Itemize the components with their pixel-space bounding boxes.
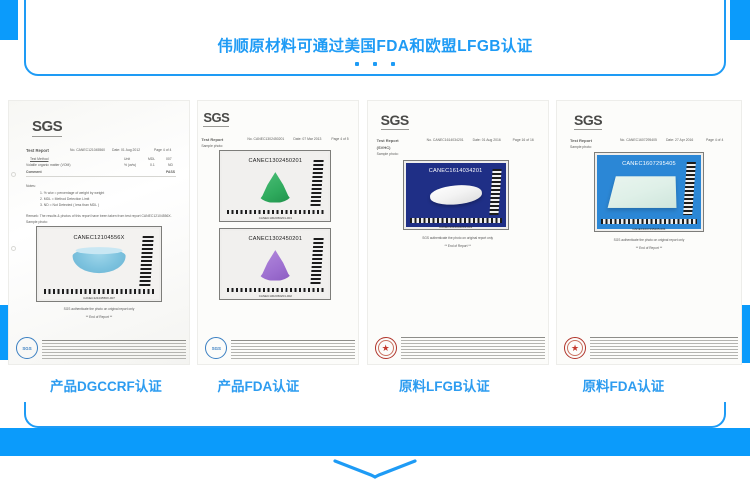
report-number: No. CANEC1614034201 [427, 138, 464, 142]
sample-code: CANEC12104556X [39, 235, 159, 241]
end-of-report-note: ** End of Report ** [556, 246, 742, 250]
ruler-horizontal-icon [227, 210, 325, 215]
result-test-label: Test Method [30, 157, 48, 161]
result-conclusion-label: Comment [26, 170, 42, 174]
notes-label: Notes: [26, 184, 36, 188]
certificate-caption-dgccrf: 产品DGCCRF认证 [8, 375, 192, 395]
result-value-unit: % (w/w) [124, 163, 136, 167]
note-item: 1. % w/w = percentage of weight by weigh… [40, 191, 104, 195]
photo-caption: CANEC1607295405-001 [595, 227, 703, 231]
sample-photo: CANEC1614034201 CANEC1614034201-001 [403, 160, 509, 230]
sample-photo: CANEC1607295405 CANEC1607295405-001 [594, 152, 704, 232]
report-page: Page 4 of 5 [331, 137, 348, 141]
report-page: Page 4 of 4 [706, 138, 723, 142]
chevron-down-icon [331, 458, 419, 479]
remark-text: Remark: The results & photos of this rep… [26, 214, 172, 218]
scan-page: SGS Test Report (SVHC) No. CANEC16140342… [367, 100, 549, 365]
edge-tab-top-right [730, 0, 750, 40]
sample-mat-shape [607, 177, 676, 209]
ruler-horizontal-icon [227, 288, 325, 293]
punch-hole-icon [11, 246, 16, 251]
sample-soap-shape [429, 183, 482, 207]
report-number: No. CANEC1302450201 [247, 137, 284, 141]
sgs-seal-icon [16, 337, 38, 359]
report-number: No. CANEC121045560 [70, 148, 105, 152]
ruler-vertical-icon [489, 169, 501, 215]
section-label: Sample photo: [201, 144, 223, 148]
dot-3 [391, 62, 395, 66]
certificate-card[interactable]: SGS Test Report No. CANEC1302450201 Date… [197, 100, 359, 365]
divider [26, 176, 176, 177]
header-subtitle: 伟顺原材料可通过美国FDA和欧盟LFGB认证 [26, 34, 724, 56]
scan-page: SGS Test Report No. CANEC1607295405 Date… [556, 100, 742, 365]
result-value-mdl: 0.1 [150, 163, 155, 167]
sgs-logo: SGS [32, 118, 62, 137]
caption-cell: 产品DGCCRF认证 [8, 375, 192, 397]
authenticity-note: SGS authenticate the photo on original r… [8, 307, 190, 311]
section-label: Sample photo: [570, 145, 592, 149]
report-title: Test Report [201, 137, 223, 142]
punch-hole-icon [11, 172, 16, 177]
caption-cell: 原料LFGB认证 [375, 375, 559, 397]
sample-drop-green-shape [257, 172, 293, 202]
result-conclusion: PASS [166, 170, 175, 174]
photo-caption: CANEC1614034201-001 [404, 225, 508, 229]
scan-footer [197, 329, 359, 365]
ruler-vertical-icon [139, 236, 153, 286]
scan-footer [8, 329, 190, 365]
end-of-report-note: ** End of Report ** [367, 244, 549, 248]
dot-1 [355, 62, 359, 66]
sample-photo: CANEC1302450201 CANEC1302450201-001 [219, 150, 331, 222]
sgs-logo: SGS [574, 112, 602, 130]
footer-fineprint [401, 337, 545, 361]
footer-fineprint [590, 337, 738, 361]
section-label: Sample photo: [26, 220, 48, 224]
report-date: Date: 27 Apr 2016 [666, 138, 693, 142]
sample-bowl-shape [73, 249, 126, 273]
ruler-horizontal-icon [601, 219, 697, 224]
sample-photo: CANEC1302450201 CANEC1302450201-002 [219, 228, 331, 300]
note-item: 3. ND = Not Detected ( less than MDL ) [40, 203, 99, 207]
sample-drop-purple-shape [257, 250, 293, 280]
ruler-vertical-icon [684, 162, 697, 215]
footer-fineprint [231, 340, 355, 361]
bottom-blue-band [0, 428, 750, 456]
photo-caption: CANEC1302450201-002 [220, 294, 330, 298]
report-date: Date: 01 Aug 2012 [112, 148, 140, 152]
certificate-caption-lfgb-material: 原料LFGB认证 [375, 375, 559, 395]
end-of-report-note: ** End of Report ** [8, 315, 190, 319]
report-date: Date: 01 Aug 2016 [473, 138, 501, 142]
header-dots-decoration [26, 62, 724, 66]
certificate-caption-fda-product: 产品FDA认证 [192, 375, 376, 395]
scan-page: SGS Test Report No. CANEC121045560 Date:… [8, 100, 190, 365]
report-page: Page 4 of 4 [154, 148, 171, 152]
report-title: Test Report [377, 138, 399, 143]
authenticity-note: SGS authenticate the photo on original r… [556, 238, 742, 242]
sgs-logo: SGS [381, 112, 409, 130]
caption-cell: 原料FDA认证 [559, 375, 743, 397]
certificate-card[interactable]: SGS Test Report No. CANEC1607295405 Date… [556, 100, 742, 365]
report-page: Page 16 of 16 [513, 138, 534, 142]
ruler-horizontal-icon [44, 289, 154, 294]
photo-caption: CANEC1302450201-001 [220, 216, 330, 220]
sgs-seal-icon [205, 337, 227, 359]
section-frame-bottom [24, 402, 726, 428]
section-label: Sample photo: [377, 152, 399, 156]
certificate-caption-fda-material: 原料FDA认证 [559, 375, 743, 395]
report-title: Test Report [570, 138, 592, 143]
sample-photo: CANEC12104556X CANEC12104556X-007 [36, 226, 162, 302]
result-col-unit: Unit [124, 157, 130, 161]
scan-footer [367, 329, 549, 365]
photo-caption: CANEC12104556X-007 [37, 296, 161, 300]
footer-fineprint [42, 340, 186, 361]
result-col-id: 007 [166, 157, 172, 161]
report-number: No. CANEC1607295405 [620, 138, 657, 142]
report-date: Date: 07 Mar 2013 [293, 137, 321, 141]
result-col-mdl: MDL [148, 157, 155, 161]
authenticity-note: SGS authenticate the photo on original r… [367, 236, 549, 240]
certification-seal-icon [375, 337, 397, 359]
dot-2 [373, 62, 377, 66]
certification-seal-icon [564, 337, 586, 359]
certificate-card[interactable]: SGS Test Report (SVHC) No. CANEC16140342… [367, 100, 549, 365]
ruler-horizontal-icon [410, 218, 502, 222]
ruler-vertical-icon [311, 160, 324, 208]
certificate-gallery: SGS Test Report No. CANEC121045560 Date:… [0, 100, 750, 370]
certificate-card[interactable]: SGS Test Report No. CANEC121045560 Date:… [8, 100, 190, 365]
scan-footer [556, 329, 742, 365]
sgs-logo: SGS [203, 110, 229, 127]
sample-code: CANEC1607295405 [597, 161, 701, 167]
note-item: 2. MDL = Method Detection Limit [40, 197, 89, 201]
ruler-vertical-icon [311, 238, 324, 286]
result-line-label: Volatile organic matter (VOM) [26, 163, 70, 167]
scan-page: SGS Test Report No. CANEC1302450201 Date… [197, 100, 359, 365]
report-title: Test Report [26, 148, 49, 153]
edge-tab-top-left [0, 0, 18, 40]
sample-code: CANEC1614034201 [406, 168, 506, 174]
report-subtitle: (SVHC) [377, 145, 391, 150]
header-panel: 权威的认证 伟顺原材料可通过美国FDA和欧盟LFGB认证 [24, 0, 726, 76]
caption-cell: 产品FDA认证 [192, 375, 376, 397]
result-value-id: ND [168, 163, 173, 167]
certificate-captions: 产品DGCCRF认证 产品FDA认证 原料LFGB认证 原料FDA认证 [0, 375, 750, 397]
